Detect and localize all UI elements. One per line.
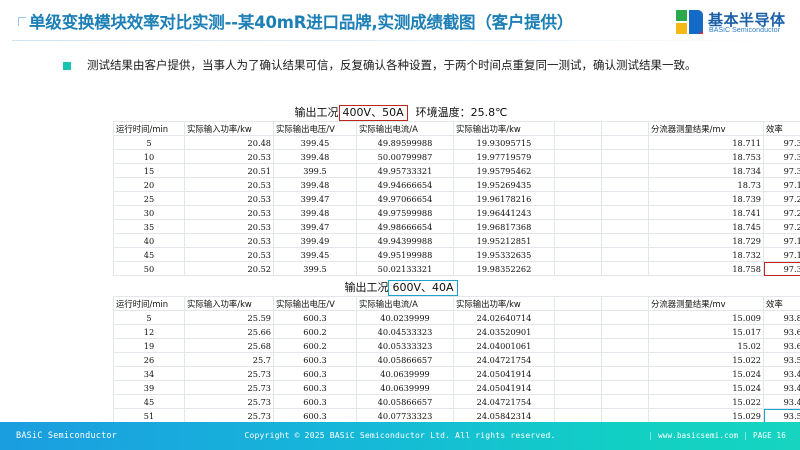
table-cell [602, 395, 649, 409]
table-cell: 600.2 [274, 339, 357, 353]
efficiency-cell: 93.472% [764, 367, 800, 381]
table-cell: 18.758 [649, 262, 764, 276]
table-cell: 24.04721754 [454, 395, 555, 409]
table-cell: 20.48 [185, 136, 274, 150]
table-cell: 399.49 [274, 234, 357, 248]
table-cell: 39 [114, 381, 185, 395]
efficiency-cell: 97.232% [764, 192, 800, 206]
measurement-block-600v: 输出工况600V、40A 运行时间/min实际输入功率/kw实际输出电压/V实际… [113, 279, 689, 423]
table-cell: 600.3 [274, 409, 357, 423]
logo-name-en: BASiC Semiconductor [709, 27, 780, 34]
column-header: 实际输出电压/V [274, 122, 357, 136]
table-cell: 18.73 [649, 178, 764, 192]
table-cell [602, 325, 649, 339]
table-cell: 40.0639999 [357, 367, 454, 381]
table-row: 525.59600.340.023999924.0264071415.00993… [114, 311, 800, 325]
table-cell: 19.95212851 [454, 234, 555, 248]
table-row: 2020.53399.4849.9466665419.9526943518.73… [114, 178, 800, 192]
column-header: 实际输入功率/kw [185, 122, 274, 136]
table-header-row: 运行时间/min实际输入功率/kw实际输出电压/V实际输出电流/A实际输出功率/… [114, 297, 800, 311]
table-cell [602, 409, 649, 423]
table-cell [602, 136, 649, 150]
page-title: 单级变换模块效率对比实测--某40mR进口品牌,实测成绩截图（客户提供） [29, 9, 573, 33]
table-row: 1925.68600.240.0533332324.0400106115.029… [114, 339, 800, 353]
table-row: 2625.7600.340.0586665724.0472175415.0229… [114, 353, 800, 367]
table-row: 3020.53399.4849.9759998819.9644124318.74… [114, 206, 800, 220]
column-header [602, 297, 649, 311]
column-header: 实际输入功率/kw [185, 297, 274, 311]
table-cell: 40.05866657 [357, 395, 454, 409]
logo-square-green [676, 10, 687, 21]
column-header [602, 122, 649, 136]
table-cell: 600.3 [274, 311, 357, 325]
table-cell [555, 248, 602, 262]
table-cell: 18.732 [649, 248, 764, 262]
table-cell [555, 409, 602, 423]
table-body-1: 运行时间/min实际输入功率/kw实际输出电压/V实际输出电流/A实际输出功率/… [114, 122, 800, 276]
table-cell: 12 [114, 325, 185, 339]
table-cell: 40.05333323 [357, 339, 454, 353]
table-cell: 49.95733321 [357, 164, 454, 178]
table-cell: 50.00799987 [357, 150, 454, 164]
table-cell: 40 [114, 234, 185, 248]
table-cell [602, 220, 649, 234]
table-cell: 40.04533323 [357, 325, 454, 339]
table-cell: 600.3 [274, 381, 357, 395]
table-cell: 49.95199988 [357, 248, 454, 262]
table-row: 2520.53399.4749.9706665419.9617821618.73… [114, 192, 800, 206]
table-cell [555, 178, 602, 192]
table-cell: 19.95795462 [454, 164, 555, 178]
column-header: 实际输出电流/A [357, 122, 454, 136]
company-logo: 基本半导体 BASiC Semiconductor [676, 9, 794, 37]
table-cell: 24.04721754 [454, 353, 555, 367]
header-corner-mark [18, 17, 26, 26]
table-cell [555, 192, 602, 206]
table-cell: 24.05041914 [454, 381, 555, 395]
column-header [555, 122, 602, 136]
efficiency-cell: 97.188% [764, 178, 800, 192]
table-cell: 600.3 [274, 353, 357, 367]
table-cell: 19.95269435 [454, 178, 555, 192]
slide-header: 单级变换模块效率对比实测--某40mR进口品牌,实测成绩截图（客户提供） 基本半… [0, 0, 800, 44]
column-header [555, 297, 602, 311]
table-cell: 18.711 [649, 136, 764, 150]
table-cell: 20.53 [185, 220, 274, 234]
table-cell: 25.59 [185, 311, 274, 325]
table-cell [555, 325, 602, 339]
logo-shape-blue-d [689, 10, 703, 34]
table-cell [602, 150, 649, 164]
table-cell [555, 353, 602, 367]
table-cell [602, 353, 649, 367]
table-row: 1520.51399.549.9573332119.9579546218.734… [114, 164, 800, 178]
table-cell [602, 262, 649, 276]
table-cell: 5 [114, 311, 185, 325]
table-cell: 40.05866657 [357, 353, 454, 367]
table-cell [602, 206, 649, 220]
column-header: 实际输出电压/V [274, 297, 357, 311]
table-row: 3520.53399.4749.9866665419.9681736818.74… [114, 220, 800, 234]
efficiency-cell: 97.191% [764, 248, 800, 262]
table-row: 5020.52399.550.0213332119.9835226218.758… [114, 262, 800, 276]
table-cell: 40.07733323 [357, 409, 454, 423]
table-cell: 30 [114, 206, 185, 220]
table-row: 4525.73600.340.0586665724.0472175415.022… [114, 395, 800, 409]
efficiency-cell: 93.668% [764, 325, 800, 339]
table-cell [555, 220, 602, 234]
table-cell: 49.98666654 [357, 220, 454, 234]
data-table-600v: 运行时间/min实际输入功率/kw实际输出电压/V实际输出电流/A实际输出功率/… [113, 296, 800, 423]
column-header: 效率 [764, 297, 800, 311]
table-cell: 40.0239999 [357, 311, 454, 325]
footer-separator: | [643, 431, 658, 440]
table-cell [555, 339, 602, 353]
table-cell [555, 164, 602, 178]
table-cell: 5 [114, 136, 185, 150]
table-cell: 50.02133321 [357, 262, 454, 276]
sheet-title-2: 输出工况600V、40A [113, 279, 689, 296]
table-cell: 15.02 [649, 339, 764, 353]
table-cell [555, 395, 602, 409]
table-cell: 45 [114, 248, 185, 262]
efficiency-cell: 97.307% [764, 150, 800, 164]
table-cell: 15.024 [649, 381, 764, 395]
table-cell: 24.03520901 [454, 325, 555, 339]
column-header: 实际输出功率/kw [454, 122, 555, 136]
measurement-block-400v: 输出工况400V、50A环境温度：25.8℃ 运行时间/min实际输入功率/kw… [113, 104, 689, 276]
table-cell: 49.97066654 [357, 192, 454, 206]
table-cell: 19.96441243 [454, 206, 555, 220]
column-header: 运行时间/min [114, 297, 185, 311]
table-cell: 20.52 [185, 262, 274, 276]
condition-label-1: 输出工况 [295, 106, 339, 119]
table-cell: 600.3 [274, 395, 357, 409]
footer-right: |www.basicsemi.com|PAGE 16 [643, 431, 786, 440]
table-cell [602, 248, 649, 262]
table-cell: 49.97599988 [357, 206, 454, 220]
table-cell: 19.96178216 [454, 192, 555, 206]
table-cell: 20.53 [185, 234, 274, 248]
table-cell [602, 311, 649, 325]
table-cell: 15.017 [649, 325, 764, 339]
efficiency-cell: 97.263% [764, 220, 800, 234]
table-cell: 399.48 [274, 178, 357, 192]
efficiency-cell: 97.245% [764, 206, 800, 220]
table-cell: 399.47 [274, 192, 357, 206]
table-cell: 10 [114, 150, 185, 164]
table-cell: 399.45 [274, 248, 357, 262]
table-cell [555, 381, 602, 395]
table-cell: 19.96817368 [454, 220, 555, 234]
table-cell: 399.5 [274, 164, 357, 178]
table-cell [555, 234, 602, 248]
table-cell: 18.741 [649, 206, 764, 220]
column-header: 效率 [764, 122, 800, 136]
table-cell: 49.89599988 [357, 136, 454, 150]
table-cell: 18.745 [649, 220, 764, 234]
bullet-text: 测试结果由客户提供，当事人为了确认结果可信，反复确认各种设置，于两个时间点重复同… [87, 57, 697, 73]
table-cell: 24.05041914 [454, 367, 555, 381]
table-row: 3425.73600.340.063999924.0504191415.0249… [114, 367, 800, 381]
table-cell: 19.93095715 [454, 136, 555, 150]
efficiency-cell: 93.890% [764, 311, 800, 325]
table-row: 3925.73600.340.063999924.0504191415.0249… [114, 381, 800, 395]
table-cell: 399.5 [274, 262, 357, 276]
column-header: 实际输出功率/kw [454, 297, 555, 311]
table-cell: 25.68 [185, 339, 274, 353]
table-cell: 600.2 [274, 325, 357, 339]
table-cell: 15 [114, 164, 185, 178]
sheet-title-1: 输出工况400V、50A环境温度：25.8℃ [113, 104, 689, 121]
table-cell [602, 192, 649, 206]
table-cell [602, 234, 649, 248]
table-row: 520.48399.4549.8959998819.9309571518.711… [114, 136, 800, 150]
table-cell: 25.73 [185, 395, 274, 409]
table-cell [602, 381, 649, 395]
table-cell [555, 311, 602, 325]
efficiency-cell: 93.472% [764, 381, 800, 395]
table-cell: 20.53 [185, 248, 274, 262]
table-row: 4020.53399.4949.9439998819.9521285118.72… [114, 234, 800, 248]
efficiency-cell: 97.308% [764, 164, 800, 178]
efficiency-cell: 97.185% [764, 234, 800, 248]
ambient-label-1: 环境温度： [416, 106, 471, 119]
table-row: 5125.73600.340.0773332324.0584231415.029… [114, 409, 800, 423]
table-cell: 15.022 [649, 353, 764, 367]
table-cell [602, 164, 649, 178]
table-cell: 20.53 [185, 192, 274, 206]
table-cell [555, 150, 602, 164]
footer-page-number: PAGE 16 [753, 431, 786, 440]
table-cell [555, 136, 602, 150]
table-cell: 20.51 [185, 164, 274, 178]
table-row: 1225.66600.240.0453332324.0352090115.017… [114, 325, 800, 339]
table-cell: 35 [114, 220, 185, 234]
efficiency-cell: 93.614% [764, 339, 800, 353]
table-cell: 18.739 [649, 192, 764, 206]
table-cell: 25.66 [185, 325, 274, 339]
ambient-value-1: 25.8℃ [471, 106, 508, 119]
condition-label-2: 输出工况 [344, 281, 388, 294]
table-cell: 399.45 [274, 136, 357, 150]
table-cell: 24.04001061 [454, 339, 555, 353]
table-cell: 19.95332635 [454, 248, 555, 262]
efficiency-cell-highlighted: 97.386% [764, 262, 800, 276]
column-header: 分流器测量结果/mv [649, 122, 764, 136]
table-cell: 19 [114, 339, 185, 353]
table-cell: 19.98352262 [454, 262, 555, 276]
table-cell: 15.029 [649, 409, 764, 423]
table-cell: 18.729 [649, 234, 764, 248]
table-cell: 49.94399988 [357, 234, 454, 248]
table-cell [602, 367, 649, 381]
table-cell: 26 [114, 353, 185, 367]
table-body-2: 运行时间/min实际输入功率/kw实际输出电压/V实际输出电流/A实际输出功率/… [114, 297, 800, 423]
table-cell: 25.73 [185, 367, 274, 381]
footer-website: www.basicsemi.com [658, 431, 738, 440]
efficiency-cell: 97.319% [764, 136, 800, 150]
table-cell: 20.53 [185, 150, 274, 164]
table-cell: 24.05842314 [454, 409, 555, 423]
table-cell: 25 [114, 192, 185, 206]
condition-value-2: 600V、40A [388, 280, 457, 296]
table-cell: 399.47 [274, 220, 357, 234]
table-cell: 18.734 [649, 164, 764, 178]
header-divider [12, 40, 788, 41]
table-cell: 49.94666654 [357, 178, 454, 192]
table-cell: 20.53 [185, 178, 274, 192]
table-cell: 399.48 [274, 206, 357, 220]
table-cell: 45 [114, 395, 185, 409]
footer-separator-2: | [738, 431, 753, 440]
table-cell: 25.7 [185, 353, 274, 367]
table-row: 4520.53399.4549.9519998819.9533263518.73… [114, 248, 800, 262]
table-cell: 25.73 [185, 381, 274, 395]
table-header-row: 运行时间/min实际输入功率/kw实际输出电压/V实际输出电流/A实际输出功率/… [114, 122, 800, 136]
table-cell: 24.02640714 [454, 311, 555, 325]
table-cell [555, 206, 602, 220]
efficiency-cell-highlighted: 93.503% [764, 409, 800, 423]
logo-grid-icon [676, 10, 703, 34]
efficiency-cell: 93.569% [764, 353, 800, 367]
table-cell [602, 339, 649, 353]
table-cell: 15.022 [649, 395, 764, 409]
table-cell: 50 [114, 262, 185, 276]
table-cell: 51 [114, 409, 185, 423]
table-cell [555, 367, 602, 381]
table-cell: 15.024 [649, 367, 764, 381]
table-row: 1020.53399.4850.0079998719.9771957918.75… [114, 150, 800, 164]
table-cell [602, 178, 649, 192]
table-cell: 34 [114, 367, 185, 381]
table-cell: 19.97719579 [454, 150, 555, 164]
table-cell: 15.009 [649, 311, 764, 325]
condition-value-1: 400V、50A [339, 105, 408, 121]
column-header: 实际输出电流/A [357, 297, 454, 311]
table-cell: 25.73 [185, 409, 274, 423]
logo-square-yellow [676, 23, 687, 34]
table-cell: 20.53 [185, 206, 274, 220]
table-cell: 18.753 [649, 150, 764, 164]
column-header: 运行时间/min [114, 122, 185, 136]
bullet-row: 测试结果由客户提供，当事人为了确认结果可信，反复确认各种设置，于两个时间点重复同… [0, 55, 800, 77]
data-table-400v: 运行时间/min实际输入功率/kw实际输出电压/V实际输出电流/A实际输出功率/… [113, 121, 800, 276]
table-cell: 399.48 [274, 150, 357, 164]
bullet-marker-icon [63, 62, 71, 70]
column-header: 分流器测量结果/mv [649, 297, 764, 311]
table-cell: 40.0639999 [357, 381, 454, 395]
efficiency-cell: 93.460% [764, 395, 800, 409]
table-cell: 600.3 [274, 367, 357, 381]
slide-footer: BASiC Semiconductor Copyright © 2025 BAS… [0, 422, 800, 450]
table-cell [555, 262, 602, 276]
table-cell: 20 [114, 178, 185, 192]
